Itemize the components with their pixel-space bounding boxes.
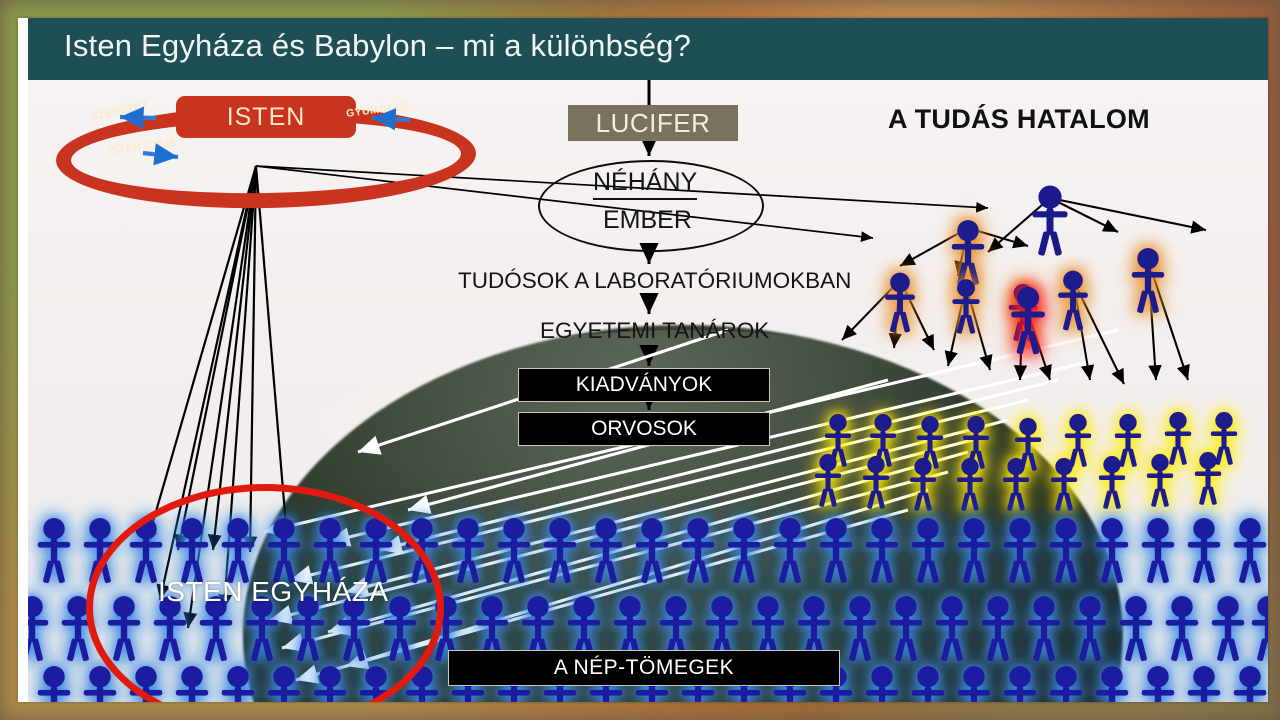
- chain-box-publications[interactable]: KIADVÁNYOK: [518, 368, 770, 402]
- chain-box-masses[interactable]: A NÉP-TÖMEGEK: [448, 650, 840, 686]
- slide-body: ISTEN SZERETET ISTEN IGÉJE GYÜMÖLCS: [28, 80, 1268, 702]
- chain-label-scientists: TUDÓSOK A LABORATÓRIUMOKBAN: [458, 268, 851, 294]
- figure-top-leader: [1032, 185, 1067, 256]
- title-bar: Isten Egyháza és Babylon – mi a különbsé…: [28, 18, 1268, 80]
- lucifer-label: LUCIFER: [568, 105, 738, 141]
- knowledge-is-power-headline: A TUDÁS HATALOM: [888, 104, 1150, 135]
- page-title: Isten Egyháza és Babylon – mi a különbsé…: [64, 28, 691, 64]
- god-label: ISTEN: [176, 96, 356, 138]
- church-of-god-label: ISTEN EGYHÁZA: [158, 576, 389, 608]
- chain-label-ember: EMBER: [603, 206, 692, 235]
- chain-label-professors: EGYETEMI TANÁROK: [540, 318, 769, 344]
- god-block[interactable]: ISTEN: [176, 96, 356, 138]
- chain-label-masses: A NÉP-TÖMEGEK: [449, 651, 839, 685]
- slide-stage: Isten Egyháza és Babylon – mi a különbsé…: [0, 0, 1280, 720]
- chain-label-publications: KIADVÁNYOK: [519, 369, 769, 401]
- lucifer-block[interactable]: LUCIFER: [568, 105, 738, 141]
- chain-label-nehany: NÉHÁNY: [593, 168, 697, 200]
- figure-highlighted: [1011, 287, 1045, 355]
- chain-label-doctors: ORVOSOK: [519, 413, 769, 445]
- figure-rank3: [885, 271, 1088, 342]
- chain-box-doctors[interactable]: ORVOSOK: [518, 412, 770, 446]
- figure-rank2: [952, 220, 1165, 313]
- presentation-slide: Isten Egyháza és Babylon – mi a különbsé…: [18, 18, 1268, 702]
